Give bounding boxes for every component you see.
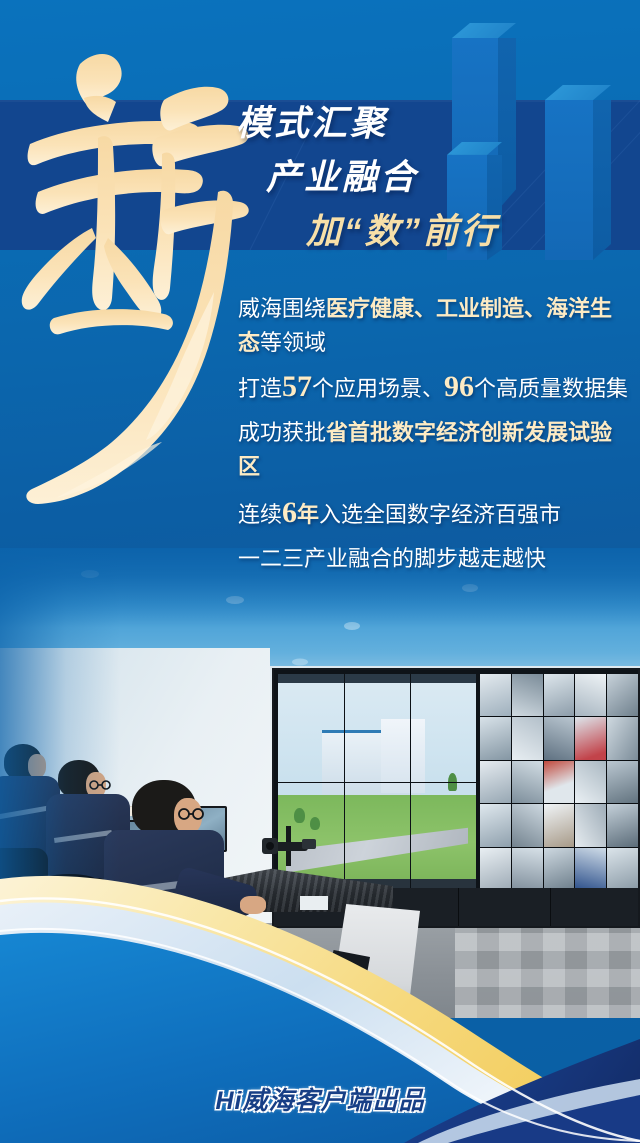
cctv-cell: [544, 804, 575, 846]
cctv-cell: [480, 717, 511, 759]
cctv-cell: [512, 674, 543, 716]
title-line-1: 模式汇聚: [236, 106, 626, 141]
screen-tree-1: [294, 808, 305, 823]
hero-title-block: 模式汇聚 产业融合 加“数”前行: [236, 106, 626, 249]
screen-seam-h: [278, 782, 476, 783]
cctv-cell: [544, 761, 575, 803]
footer-logo: Hi威海客户端出品: [0, 1081, 640, 1117]
p4-run-4: 入选全国数字经济百强市: [319, 502, 561, 527]
cctv-cell: [512, 804, 543, 846]
p2-run-3: 个应用场景、: [312, 376, 444, 401]
paragraph-2: 打造57个应用场景、96个高质量数据集: [238, 370, 630, 406]
p1-run-3: 等领域: [260, 330, 326, 355]
cctv-cell: [607, 761, 638, 803]
p4-run-1: 连续: [238, 502, 282, 527]
screen-toolbar-top: [278, 674, 476, 683]
paragraph-1: 威海围绕医疗健康、工业制造、海洋生态等领域: [238, 292, 630, 360]
cctv-cell: [575, 674, 606, 716]
p2-run-1: 打造: [238, 376, 282, 401]
title-line-3: 加“数”前行: [306, 214, 626, 249]
cctv-cell: [607, 674, 638, 716]
p1-run-1: 威海围绕: [238, 296, 326, 321]
p4-number-6: 6: [282, 496, 297, 529]
cctv-cell: [607, 804, 638, 846]
body-copy: 威海围绕医疗健康、工业制造、海洋生态等领域 打造57个应用场景、96个高质量数据…: [238, 292, 630, 584]
worker-eyeglasses: [176, 808, 206, 820]
paragraph-4: 连续6年入选全国数字经济百强市: [238, 496, 630, 532]
cctv-cell: [607, 717, 638, 759]
paragraph-3: 成功获批省首批数字经济创新发展试验区: [238, 416, 630, 484]
cctv-cell: [512, 717, 543, 759]
cctv-cell: [575, 761, 606, 803]
cctv-cell: [544, 674, 575, 716]
paragraph-5: 一二三产业融合的脚步越走越快: [238, 542, 630, 576]
p3-run-1: 成功获批: [238, 420, 326, 445]
cctv-cell: [480, 674, 511, 716]
p4-run-3-highlight: 年: [297, 502, 319, 527]
p2-number-96: 96: [444, 370, 474, 403]
cctv-cell: [512, 761, 543, 803]
poster-root: 模式汇聚 产业融合 加“数”前行: [0, 0, 640, 1143]
cctv-cell: [575, 804, 606, 846]
cctv-cell: [544, 717, 575, 759]
p2-run-5: 个高质量数据集: [474, 376, 628, 401]
p5-run-1: 一二三产业融合的脚步越走越快: [238, 546, 546, 571]
cctv-cell: [575, 717, 606, 759]
title-line-2: 产业融合: [266, 160, 626, 195]
cctv-cell: [480, 804, 511, 846]
bottom-ribbon: Hi威海客户端出品: [0, 843, 640, 1143]
cctv-cell: [480, 761, 511, 803]
p2-number-57: 57: [282, 370, 312, 403]
